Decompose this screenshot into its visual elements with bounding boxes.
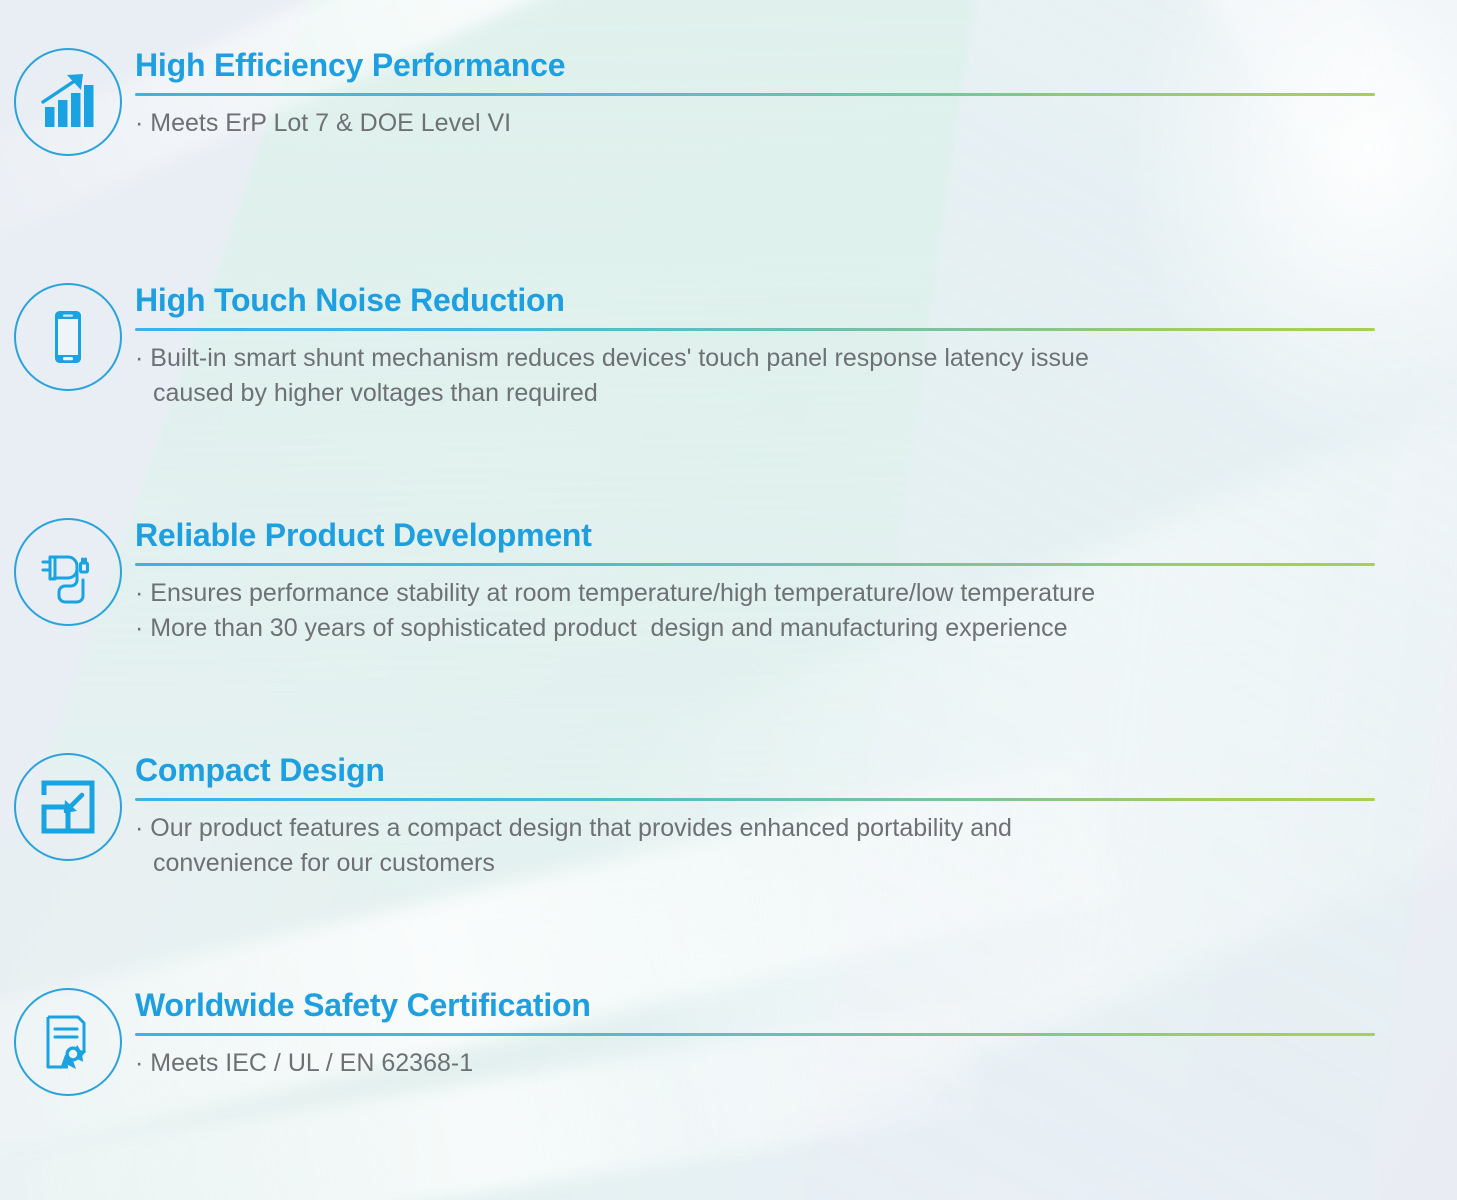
feature-title: Reliable Product Development (135, 518, 1375, 554)
feature-body: Reliable Product Development · Ensures p… (135, 518, 1457, 647)
bullet-dot: · (135, 814, 143, 842)
feature-body: Worldwide Safety Certification · Meets I… (135, 988, 1457, 1081)
feature-icon-wrap (0, 753, 135, 861)
icon-circle (14, 518, 122, 626)
feature-icon-wrap (0, 988, 135, 1096)
feature-bullet-line: · Meets IEC / UL / EN 62368-1 (135, 1046, 1375, 1082)
feature-item-compact-design: Compact Design · Our product features a … (0, 753, 1457, 882)
bullet-text: convenience for our customers (153, 849, 495, 877)
feature-item-reliable-product-development: Reliable Product Development · Ensures p… (0, 518, 1457, 647)
bullet-text: More than 30 years of sophisticated prod… (150, 614, 1067, 642)
feature-icon-wrap (0, 283, 135, 391)
feature-bullets: · Meets IEC / UL / EN 62368-1 (135, 1046, 1375, 1082)
feature-bullets: · Our product features a compact design … (135, 811, 1375, 882)
feature-divider (135, 328, 1375, 331)
bullet-text: Ensures performance stability at room te… (150, 579, 1095, 607)
feature-bullet-line: caused by higher voltages than required (135, 376, 1375, 412)
bullet-dot: · (135, 579, 143, 607)
feature-highlights-page: High Efficiency Performance · Meets ErP … (0, 0, 1457, 1200)
feature-divider (135, 93, 1375, 96)
compact-resize-icon (38, 777, 98, 837)
feature-bullet-line: · Built-in smart shunt mechanism reduces… (135, 341, 1375, 377)
feature-body: High Touch Noise Reduction · Built-in sm… (135, 283, 1457, 412)
icon-circle (14, 988, 122, 1096)
bullet-text: Built-in smart shunt mechanism reduces d… (150, 344, 1089, 372)
bullet-text: Meets IEC / UL / EN 62368-1 (150, 1049, 473, 1077)
feature-item-high-efficiency-performance: High Efficiency Performance · Meets ErP … (0, 48, 1457, 156)
icon-circle (14, 48, 122, 156)
feature-title: Worldwide Safety Certification (135, 988, 1375, 1024)
bullet-dot: · (135, 1049, 143, 1077)
bar-chart-growth-icon (37, 71, 99, 133)
feature-bullet-line: · More than 30 years of sophisticated pr… (135, 611, 1375, 647)
bullet-text: Meets ErP Lot 7 & DOE Level VI (150, 109, 511, 137)
feature-bullets: · Ensures performance stability at room … (135, 576, 1375, 647)
bullet-dot: · (135, 109, 143, 137)
feature-body: Compact Design · Our product features a … (135, 753, 1457, 882)
feature-bullet-line: convenience for our customers (135, 846, 1375, 882)
icon-circle (14, 283, 122, 391)
feature-title: Compact Design (135, 753, 1375, 789)
feature-title: High Efficiency Performance (135, 48, 1375, 84)
feature-bullets: · Built-in smart shunt mechanism reduces… (135, 341, 1375, 412)
feature-icon-wrap (0, 518, 135, 626)
feature-divider (135, 563, 1375, 566)
icon-circle (14, 753, 122, 861)
feature-item-high-touch-noise-reduction: High Touch Noise Reduction · Built-in sm… (0, 283, 1457, 412)
feature-divider (135, 1033, 1375, 1036)
feature-body: High Efficiency Performance · Meets ErP … (135, 48, 1457, 141)
bullet-text: Our product features a compact design th… (150, 814, 1012, 842)
feature-title: High Touch Noise Reduction (135, 283, 1375, 319)
bullet-dot: · (135, 344, 143, 372)
smartphone-icon (37, 306, 99, 368)
feature-divider (135, 798, 1375, 801)
bullet-text: caused by higher voltages than required (153, 379, 598, 407)
certificate-award-icon (38, 1011, 98, 1073)
feature-bullet-line: · Our product features a compact design … (135, 811, 1375, 847)
feature-icon-wrap (0, 48, 135, 156)
power-adapter-icon (36, 540, 100, 604)
feature-bullet-line: · Meets ErP Lot 7 & DOE Level VI (135, 106, 1375, 142)
feature-bullet-line: · Ensures performance stability at room … (135, 576, 1375, 612)
feature-item-worldwide-safety-certification: Worldwide Safety Certification · Meets I… (0, 988, 1457, 1096)
bullet-dot: · (135, 614, 143, 642)
feature-bullets: · Meets ErP Lot 7 & DOE Level VI (135, 106, 1375, 142)
